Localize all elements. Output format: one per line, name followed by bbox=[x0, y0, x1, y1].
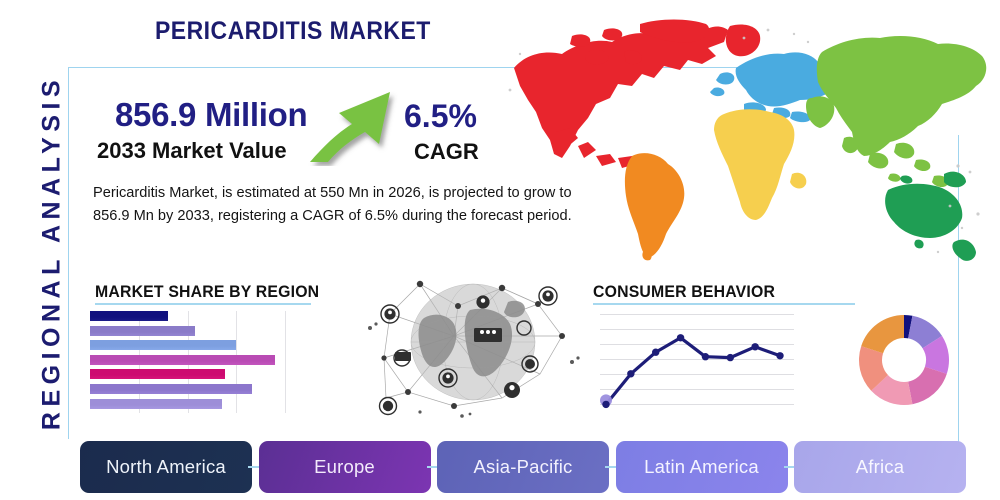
line-chart-series bbox=[600, 306, 794, 414]
region-button-latin-america[interactable]: Latin America bbox=[616, 441, 788, 493]
bar-chart-bar bbox=[90, 326, 195, 336]
map-region-asia bbox=[806, 36, 986, 187]
bar-chart-bar bbox=[90, 355, 275, 365]
line-chart-point bbox=[602, 401, 609, 408]
section-rule-market-share bbox=[95, 303, 311, 305]
global-network-globe-icon bbox=[362, 266, 584, 422]
map-region-africa bbox=[714, 109, 806, 220]
section-heading-market-share: MARKET SHARE BY REGION bbox=[95, 282, 319, 302]
line-chart-point bbox=[751, 343, 758, 350]
donut-segment bbox=[908, 367, 947, 404]
line-chart-point bbox=[627, 370, 634, 377]
bar-chart-bar bbox=[90, 369, 225, 379]
market-value-caption: 2033 Market Value bbox=[97, 138, 287, 164]
line-chart-point bbox=[652, 349, 659, 356]
bar-chart-bar bbox=[90, 399, 222, 409]
bar-chart-bar bbox=[90, 384, 252, 394]
region-button-north-america[interactable]: North America bbox=[80, 441, 252, 493]
line-chart-point bbox=[776, 352, 783, 359]
line-chart-point bbox=[727, 354, 734, 361]
region-button-europe[interactable]: Europe bbox=[259, 441, 431, 493]
line-chart-point bbox=[702, 353, 709, 360]
segment-donut-chart bbox=[855, 311, 953, 409]
regional-analysis-side-label: REGIONAL ANALYSIS bbox=[38, 53, 67, 453]
map-region-oceania bbox=[885, 172, 976, 261]
world-map-icon bbox=[492, 8, 992, 270]
section-heading-consumer-behavior: CONSUMER BEHAVIOR bbox=[593, 282, 775, 302]
map-region-south-america bbox=[625, 153, 684, 260]
section-rule-consumer-behavior bbox=[593, 303, 855, 305]
growth-arrow-up-icon bbox=[306, 82, 410, 166]
bar-chart-bar bbox=[90, 340, 236, 350]
region-legend-buttons: North AmericaEuropeAsia-PacificLatin Ame… bbox=[80, 441, 966, 493]
page-title: PERICARDITIS MARKET bbox=[155, 17, 431, 46]
region-button-asia-pacific[interactable]: Asia-Pacific bbox=[437, 441, 609, 493]
market-share-bar-chart bbox=[90, 311, 285, 413]
line-chart-point bbox=[677, 334, 684, 341]
cagr-caption: CAGR bbox=[414, 139, 479, 165]
region-button-africa[interactable]: Africa bbox=[794, 441, 966, 493]
cagr-figure: 6.5% bbox=[404, 98, 477, 135]
donut-segment bbox=[861, 315, 904, 353]
consumer-behavior-line-chart bbox=[600, 306, 794, 414]
bar-chart-bar bbox=[90, 311, 168, 321]
market-value-figure: 856.9 Million bbox=[115, 96, 307, 134]
